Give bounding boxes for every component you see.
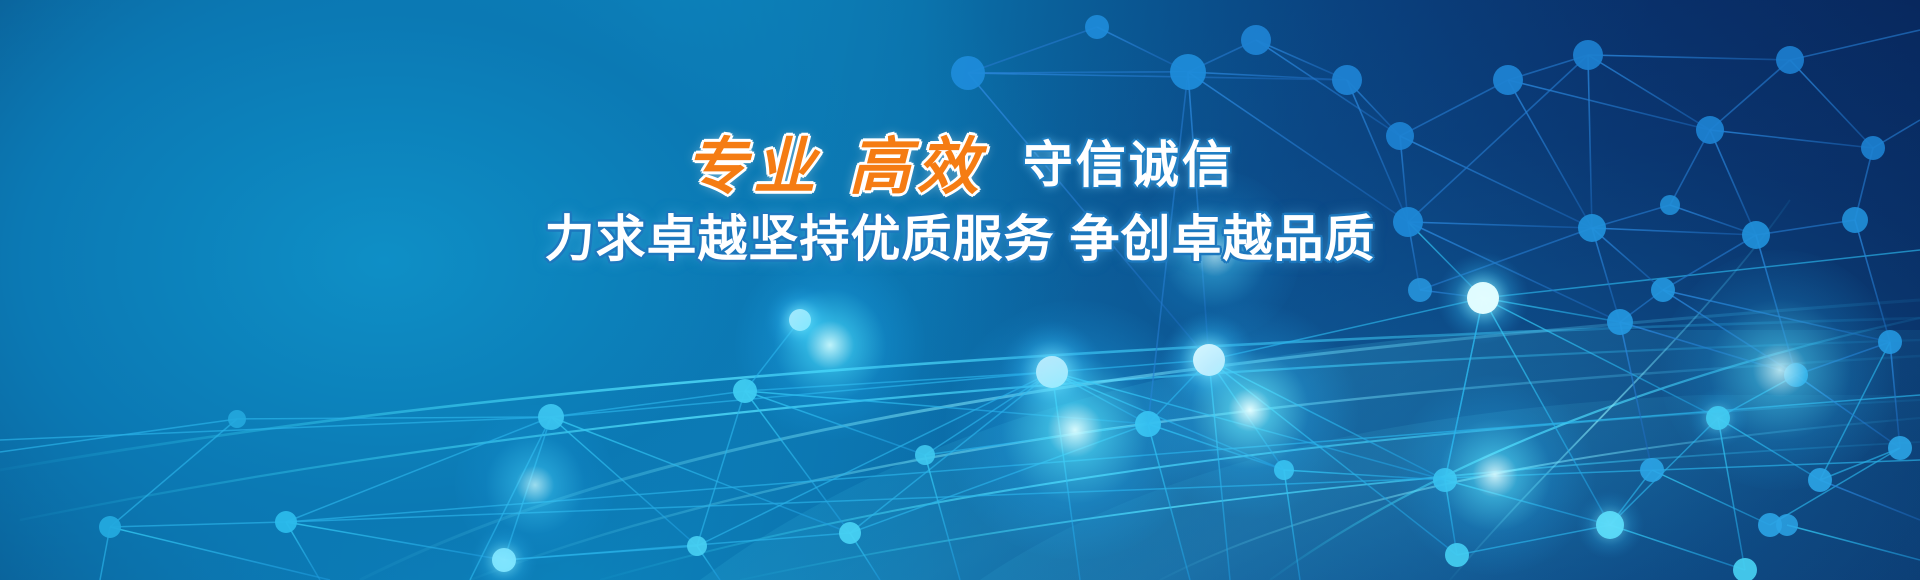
- network-mesh-decoration: [0, 0, 1920, 580]
- hero-banner: 专业 高效 守信诚信 力求卓越坚持优质服务 争创卓越品质: [0, 0, 1920, 580]
